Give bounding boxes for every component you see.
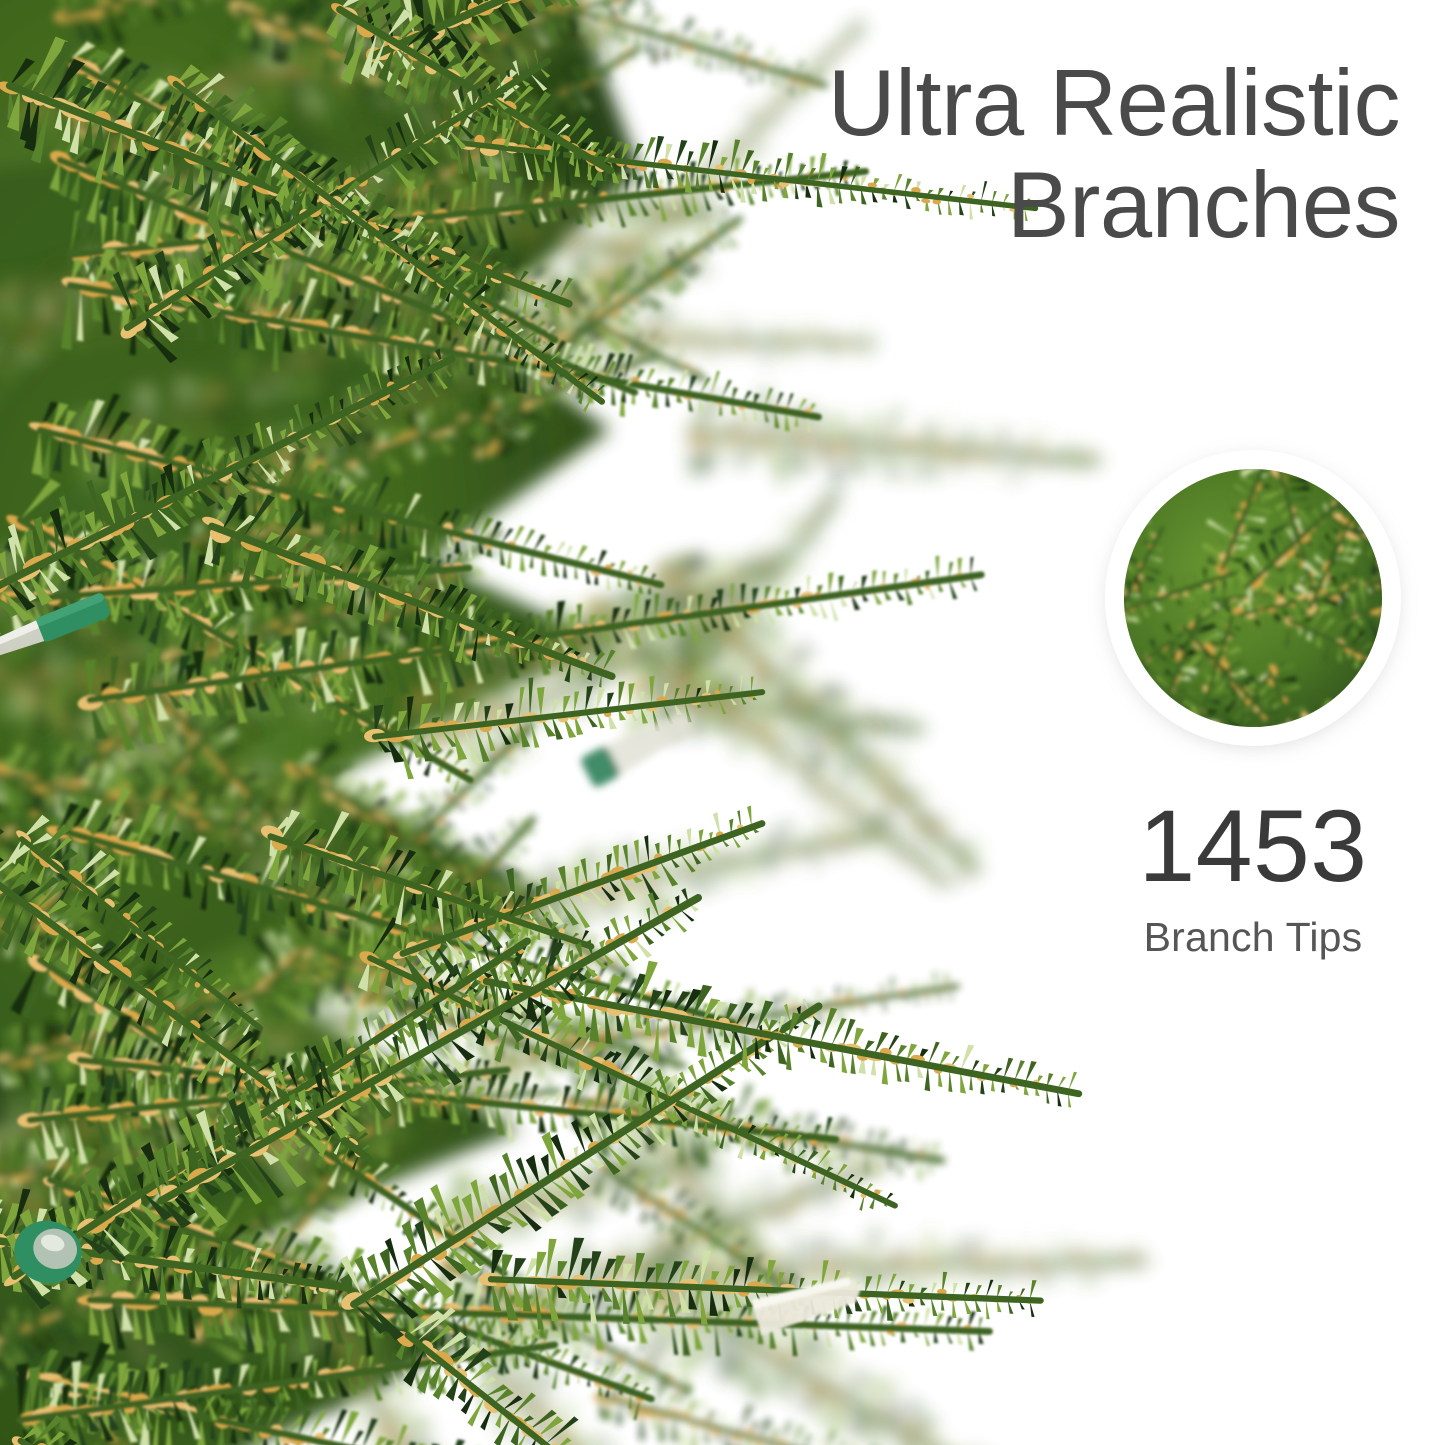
product-feature-image: Ultra Realistic Branches [0,0,1445,1445]
